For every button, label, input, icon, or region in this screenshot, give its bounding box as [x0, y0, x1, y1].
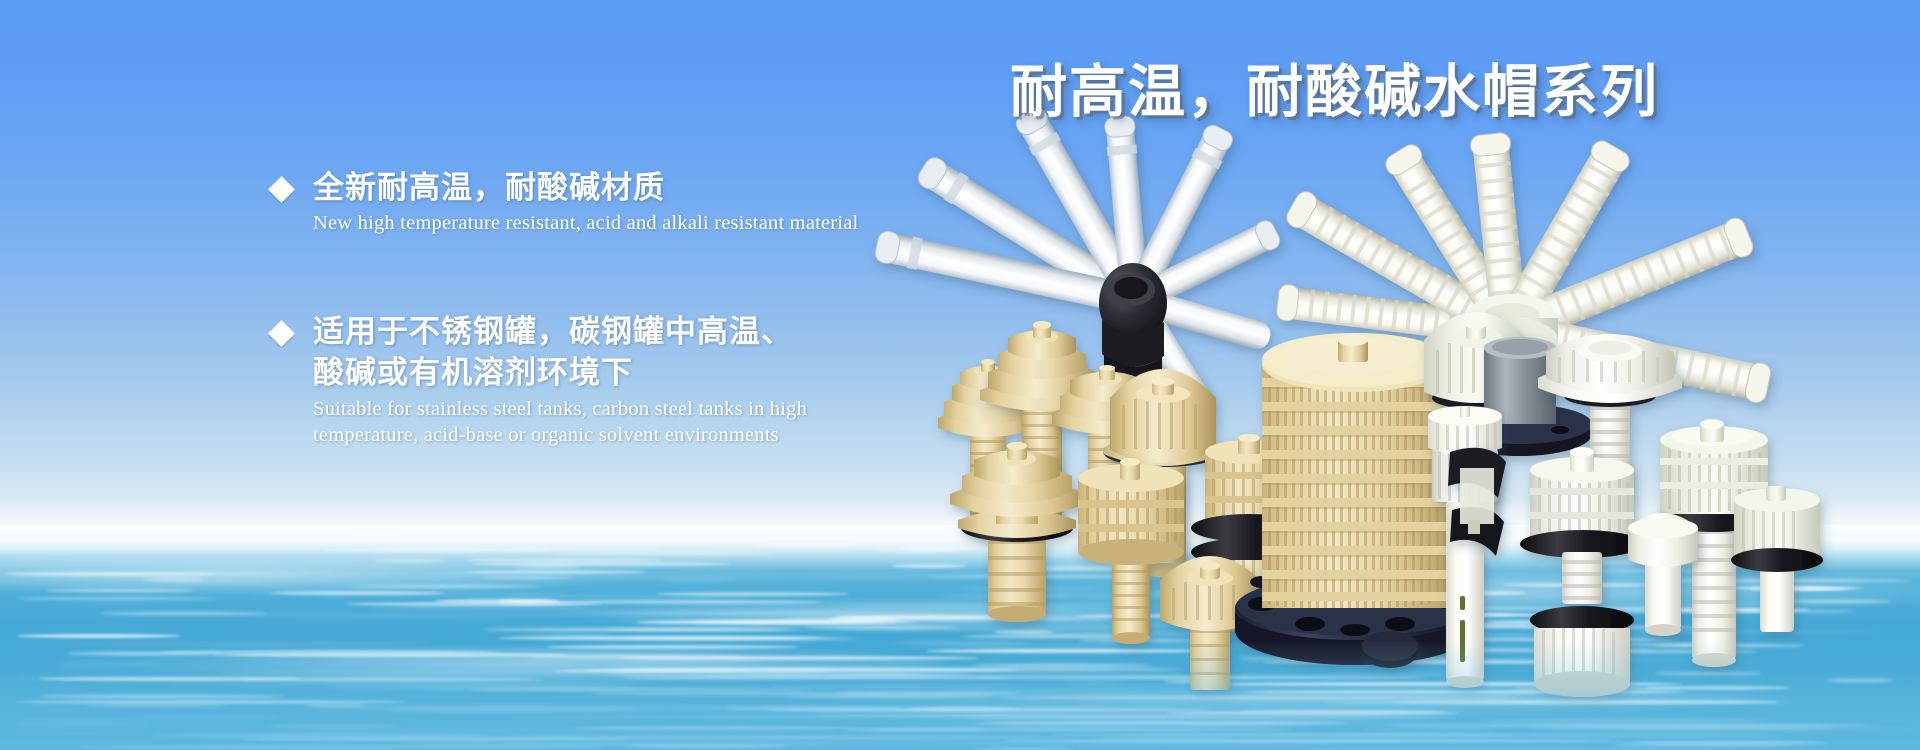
page-title: 耐高温，耐酸碱水帽系列 — [1010, 60, 1659, 126]
feature-bullet-1: 全新耐高温，耐酸碱材质 New high temperature resista… — [272, 168, 858, 236]
product-banner: 耐高温，耐酸碱水帽系列 全新耐高温，耐酸碱材质 New high tempera… — [0, 0, 1920, 750]
diamond-bullet-icon — [268, 176, 295, 203]
feature-2-cn: 适用于不锈钢罐，碳钢罐中高温、 酸碱或有机溶剂环境下 — [313, 312, 807, 394]
water-background — [0, 525, 1920, 750]
feature-bullet-2: 适用于不锈钢罐，碳钢罐中高温、 酸碱或有机溶剂环境下 Suitable for … — [272, 312, 807, 448]
diamond-bullet-icon — [268, 320, 295, 347]
feature-1-en: New high temperature resistant, acid and… — [313, 210, 858, 236]
feature-1-cn: 全新耐高温，耐酸碱材质 — [313, 168, 858, 209]
feature-2-en: Suitable for stainless steel tanks, carb… — [313, 396, 807, 448]
